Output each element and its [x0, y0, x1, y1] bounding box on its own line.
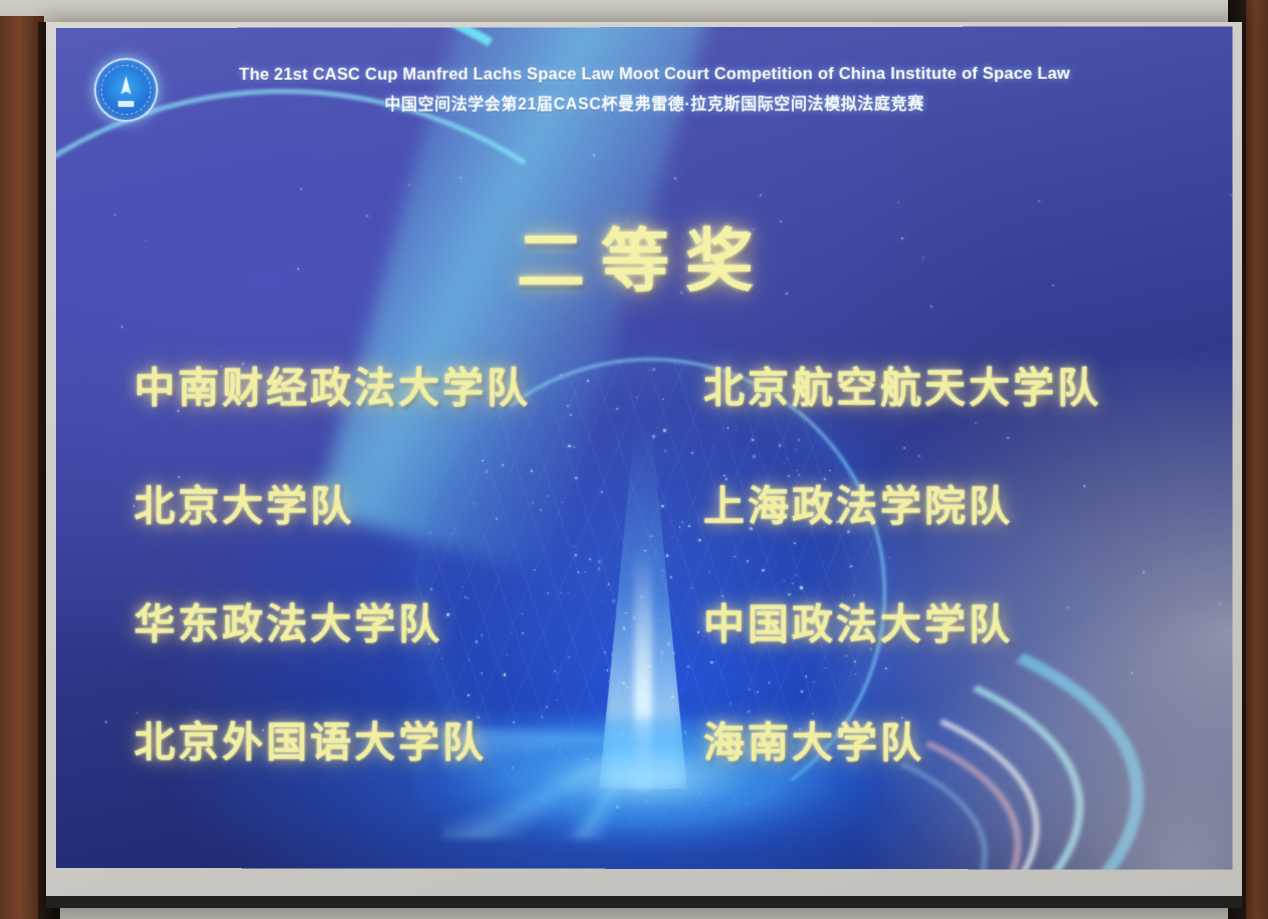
team-item: 海南大学队 [665, 709, 1168, 770]
team-item: 北京大学队 [134, 472, 665, 532]
team-item: 中南财经政法大学队 [134, 354, 665, 414]
team-item: 中国政法大学队 [665, 590, 1168, 650]
emblem-base-shape [118, 101, 134, 107]
team-list: 中南财经政法大学队 北京航空航天大学队 北京大学队 上海政法学院队 华东政法大学… [134, 354, 1168, 770]
header-title-english: The 21st CASC Cup Manfred Lachs Space La… [172, 64, 1138, 84]
slide-content: The 21st CASC Cup Manfred Lachs Space La… [56, 26, 1232, 869]
header-title-chinese: 中国空间法学会第21届CASC杯曼弗雷德·拉克斯国际空间法模拟法庭竞赛 [172, 89, 1138, 114]
award-title: 二等奖 [56, 205, 1232, 305]
team-item: 北京外国语大学队 [134, 708, 665, 769]
slide-header: The 21st CASC Cup Manfred Lachs Space La… [94, 57, 1138, 122]
room-photo: The 21st CASC Cup Manfred Lachs Space La… [0, 0, 1268, 919]
team-item: 上海政法学院队 [665, 472, 1168, 532]
team-item: 华东政法大学队 [134, 590, 665, 650]
space-law-emblem-icon [94, 58, 158, 122]
presentation-slide: The 21st CASC Cup Manfred Lachs Space La… [56, 26, 1232, 869]
team-item: 北京航空航天大学队 [665, 354, 1168, 414]
header-text-block: The 21st CASC Cup Manfred Lachs Space La… [172, 64, 1138, 114]
